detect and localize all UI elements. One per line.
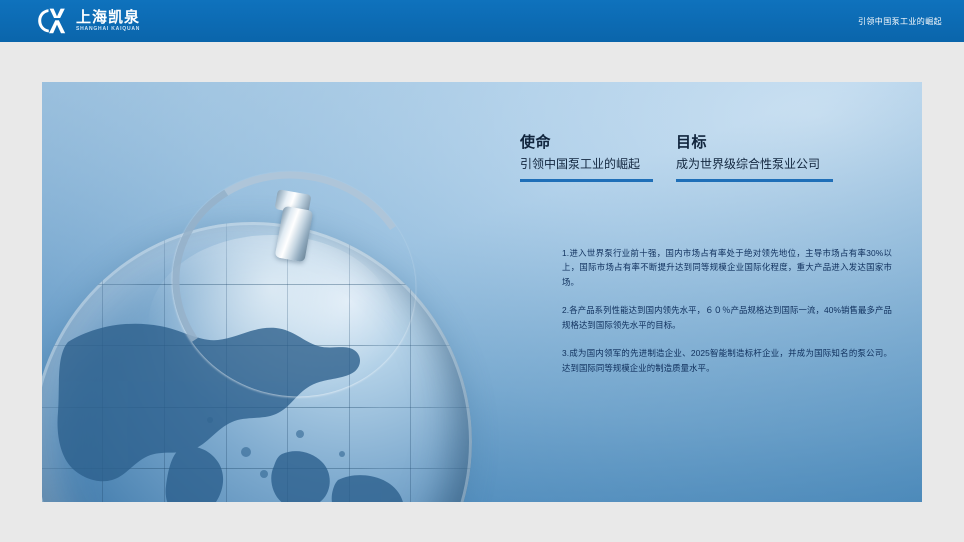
slide-text-column: 使命 引领中国泵工业的崛起 目标 成为世界级综合性泵业公司 1.进入世界泵行业前… <box>520 82 922 502</box>
mission-subtitle: 引领中国泵工业的崛起 <box>520 157 676 173</box>
goal-underline <box>676 179 833 182</box>
top-header-bar: 上海凯泉 SHANGHAI KAIQUAN 引领中国泵工业的崛起 <box>0 0 964 42</box>
brand-name-en: SHANGHAI KAIQUAN <box>76 27 140 32</box>
mission-underline <box>520 179 653 182</box>
globe-stand-cap <box>275 189 312 215</box>
brand-name-cn: 上海凯泉 <box>76 10 140 25</box>
slide-headings-row: 使命 引领中国泵工业的崛起 目标 成为世界级综合性泵业公司 <box>520 134 922 182</box>
globe-sphere <box>42 222 472 502</box>
body-paragraph-1: 1.进入世界泵行业前十强，国内市场占有率处于绝对领先地位，主导市场占有率30%以… <box>562 246 892 289</box>
mission-heading-block: 使命 引领中国泵工业的崛起 <box>520 134 676 182</box>
body-paragraph-3: 3.成为国内领军的先进制造企业、2025智能制造标杆企业，并成为国际知名的泵公司… <box>562 346 892 375</box>
kaiquan-emblem-icon <box>36 7 70 35</box>
header-tagline: 引领中国泵工业的崛起 <box>858 0 942 42</box>
brand-logo[interactable]: 上海凯泉 SHANGHAI KAIQUAN <box>36 6 140 36</box>
slide-canvas: 使命 引领中国泵工业的崛起 目标 成为世界级综合性泵业公司 1.进入世界泵行业前… <box>42 82 922 502</box>
crystal-globe-artwork <box>42 82 542 502</box>
body-paragraph-2: 2.各产品系列性能达到国内领先水平，６０％产品规格达到国际一流，40%销售最多产… <box>562 303 892 332</box>
goal-heading-block: 目标 成为世界级综合性泵业公司 <box>676 134 856 182</box>
goal-subtitle: 成为世界级综合性泵业公司 <box>676 157 856 173</box>
goal-title: 目标 <box>676 134 856 153</box>
mission-title: 使命 <box>520 134 676 153</box>
slide-body-paragraphs: 1.进入世界泵行业前十强，国内市场占有率处于绝对领先地位，主导市场占有率30%以… <box>562 246 892 375</box>
globe-continents <box>42 222 472 502</box>
